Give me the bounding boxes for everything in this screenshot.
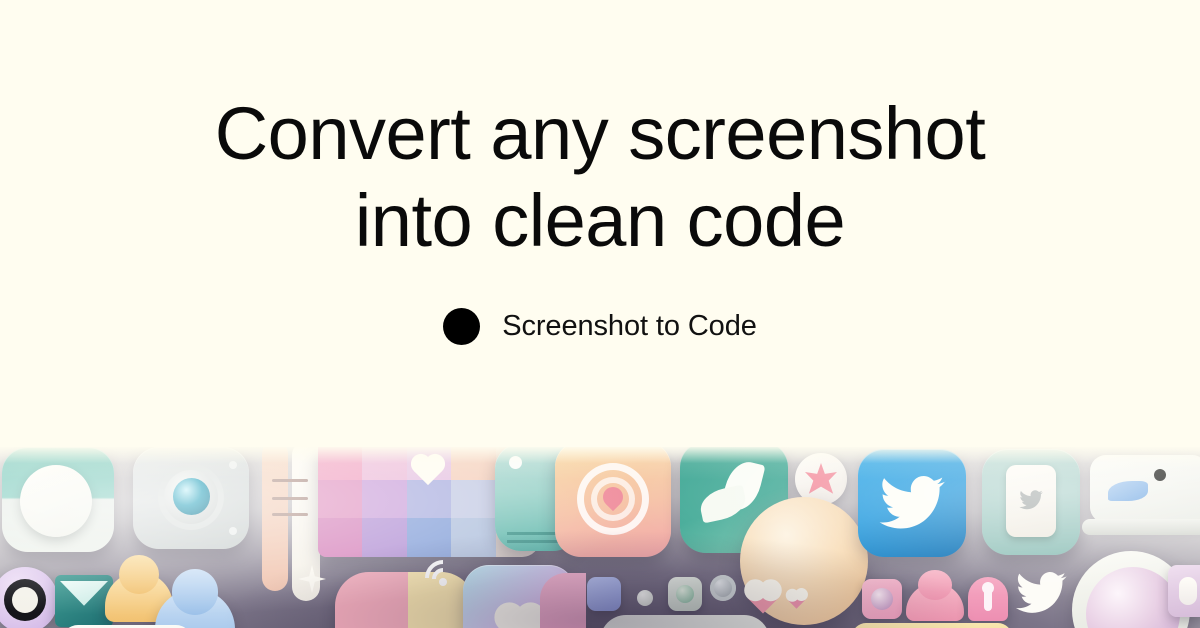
headline-line-2: into clean code	[355, 179, 845, 262]
ruler-slider-icon	[262, 447, 288, 591]
hero-section: Convert any screenshot into clean code S…	[0, 0, 1200, 447]
leaf-lower-icon	[697, 485, 748, 524]
decorative-icon-strip	[0, 447, 1200, 628]
twitter-bird-white-icon	[1010, 565, 1072, 621]
pink-star-icon	[805, 463, 837, 495]
grey-plate-icon	[600, 615, 770, 628]
twitter-bird-small-icon	[1108, 481, 1148, 501]
brand-lockup: Screenshot to Code	[443, 308, 757, 345]
pink-badge-icon	[968, 577, 1008, 621]
ruler-tick-icon	[272, 479, 308, 482]
green-chip-icon	[668, 577, 702, 611]
tiny-dot-icon	[637, 590, 653, 606]
heart-icon	[499, 607, 541, 628]
eye-dot-icon	[1154, 469, 1166, 481]
white-card-icon	[1090, 455, 1200, 523]
device-screen-icon	[1006, 465, 1056, 537]
pink-tile-icon	[540, 573, 586, 628]
ruler-tick-icon	[272, 497, 308, 500]
wifi-icon	[425, 560, 461, 586]
page-title: Convert any screenshot into clean code	[215, 90, 986, 265]
twitter-bird-glyph-icon	[1010, 565, 1072, 621]
location-pin-tile-icon	[555, 447, 671, 557]
brand-name: Screenshot to Code	[502, 310, 757, 343]
camera-shutter-icon	[20, 465, 92, 537]
device-speaker-icon	[507, 532, 559, 535]
lens-dot-top-icon	[229, 461, 237, 469]
pink-cloud-icon	[906, 583, 964, 621]
dark-lens-chip-icon	[710, 575, 736, 601]
camera-tile-icon	[2, 447, 114, 552]
blue-chip-icon	[587, 577, 621, 611]
twitter-bird-glyph-icon	[1018, 487, 1044, 513]
white-card-base-icon	[1082, 519, 1200, 535]
twitter-bird-glyph-icon	[876, 467, 948, 539]
purple-ring-icon	[0, 567, 58, 628]
pink-badge-icon	[862, 579, 902, 619]
device-camera-dot-icon	[509, 456, 522, 469]
lens-dot-bottom-icon	[229, 527, 237, 535]
yellow-plate-icon	[852, 623, 1012, 628]
headline-line-1: Convert any screenshot	[215, 92, 986, 175]
lens-glass-icon	[173, 478, 210, 515]
apple-device-tile-icon	[982, 449, 1080, 555]
lavender-button-icon	[1168, 565, 1200, 617]
solid-black-circle-icon	[443, 308, 480, 345]
twitter-bird-tile-icon	[858, 449, 966, 557]
social-share-card: Convert any screenshot into clean code S…	[0, 0, 1200, 628]
ruler-tick-icon	[272, 513, 308, 516]
camera-lens-tile-icon	[133, 447, 249, 549]
device-speaker-icon	[507, 540, 559, 543]
